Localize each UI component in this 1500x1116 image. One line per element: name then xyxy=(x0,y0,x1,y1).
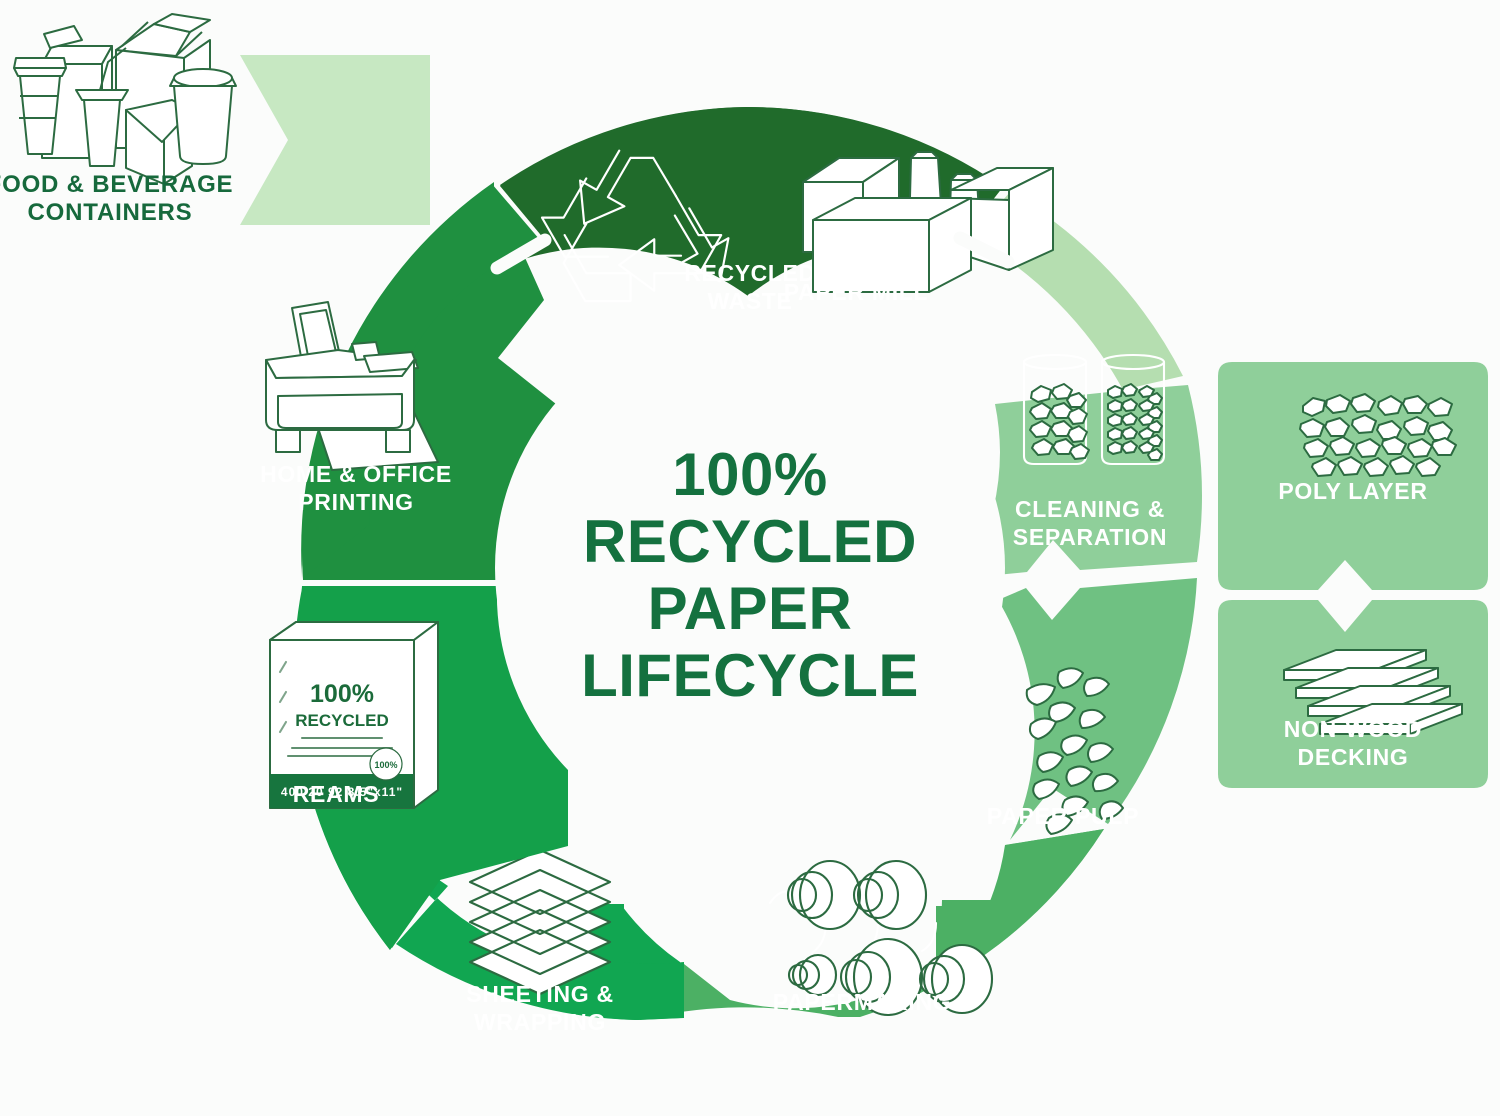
center-line-3: PAPER xyxy=(648,575,853,642)
segment-label-printing-1: HOME & OFFICE xyxy=(260,461,452,487)
center-line-4: LIFECYCLE xyxy=(581,642,919,709)
ream-seal: 100% xyxy=(374,760,397,770)
segment-paper-pulp[interactable]: PAPER PULP xyxy=(987,578,1197,840)
segment-label-recycled-waste-2: WASTE xyxy=(708,288,793,314)
output-panels: POLY LAYER xyxy=(1218,362,1488,788)
input-label-food-beverage-1: FOOD & BEVERAGE xyxy=(0,171,233,198)
segment-label-papermaking: PAPERMAKING xyxy=(773,989,952,1015)
input-food-beverage-containers[interactable]: FOOD & BEVERAGE CONTAINERS xyxy=(0,14,236,226)
paper-lifecycle-wheel: POLY LAYER xyxy=(0,0,1500,1116)
segment-label-cleaning-2: SEPARATION xyxy=(1013,524,1167,550)
wheel-center: 100% RECYCLED PAPER LIFECYCLE xyxy=(495,313,1005,823)
output-panel-non-wood-decking[interactable]: NON-WOOD DECKING xyxy=(1218,600,1488,788)
segment-label-sheeting-2: WRAPPING xyxy=(474,1009,606,1035)
center-line-1: 100% xyxy=(672,441,827,508)
infographic-canvas: POLY LAYER xyxy=(0,0,1500,1116)
output-label-non-wood-decking-1: NON-WOOD xyxy=(1284,716,1422,742)
output-label-non-wood-decking-2: DECKING xyxy=(1298,744,1409,770)
segment-label-sheeting-1: SHEETING & xyxy=(466,981,614,1007)
segment-label-printing-2: PRINTING xyxy=(298,489,414,515)
segment-label-paper-pulp: PAPER PULP xyxy=(987,803,1139,829)
center-line-2: RECYCLED xyxy=(583,508,917,575)
output-panel-poly-layer[interactable]: POLY LAYER xyxy=(1218,362,1488,590)
segment-label-reams: REAMS xyxy=(293,781,380,807)
food-beverage-containers-icon xyxy=(14,14,236,184)
input-arrow-banner xyxy=(240,55,430,225)
factory-icon xyxy=(803,152,1053,292)
ream-subhead: RECYCLED xyxy=(295,711,389,730)
segment-papermaking[interactable]: PAPERMAKING xyxy=(640,829,1104,1020)
ream-headline: 100% xyxy=(310,680,374,708)
input-label-food-beverage-2: CONTAINERS xyxy=(28,199,193,226)
segment-label-paper-mill: PAPER MILL xyxy=(784,279,929,305)
output-label-poly-layer: POLY LAYER xyxy=(1278,478,1427,504)
segment-label-cleaning-1: CLEANING & xyxy=(1015,496,1165,522)
paper-stack-icon xyxy=(470,850,610,994)
